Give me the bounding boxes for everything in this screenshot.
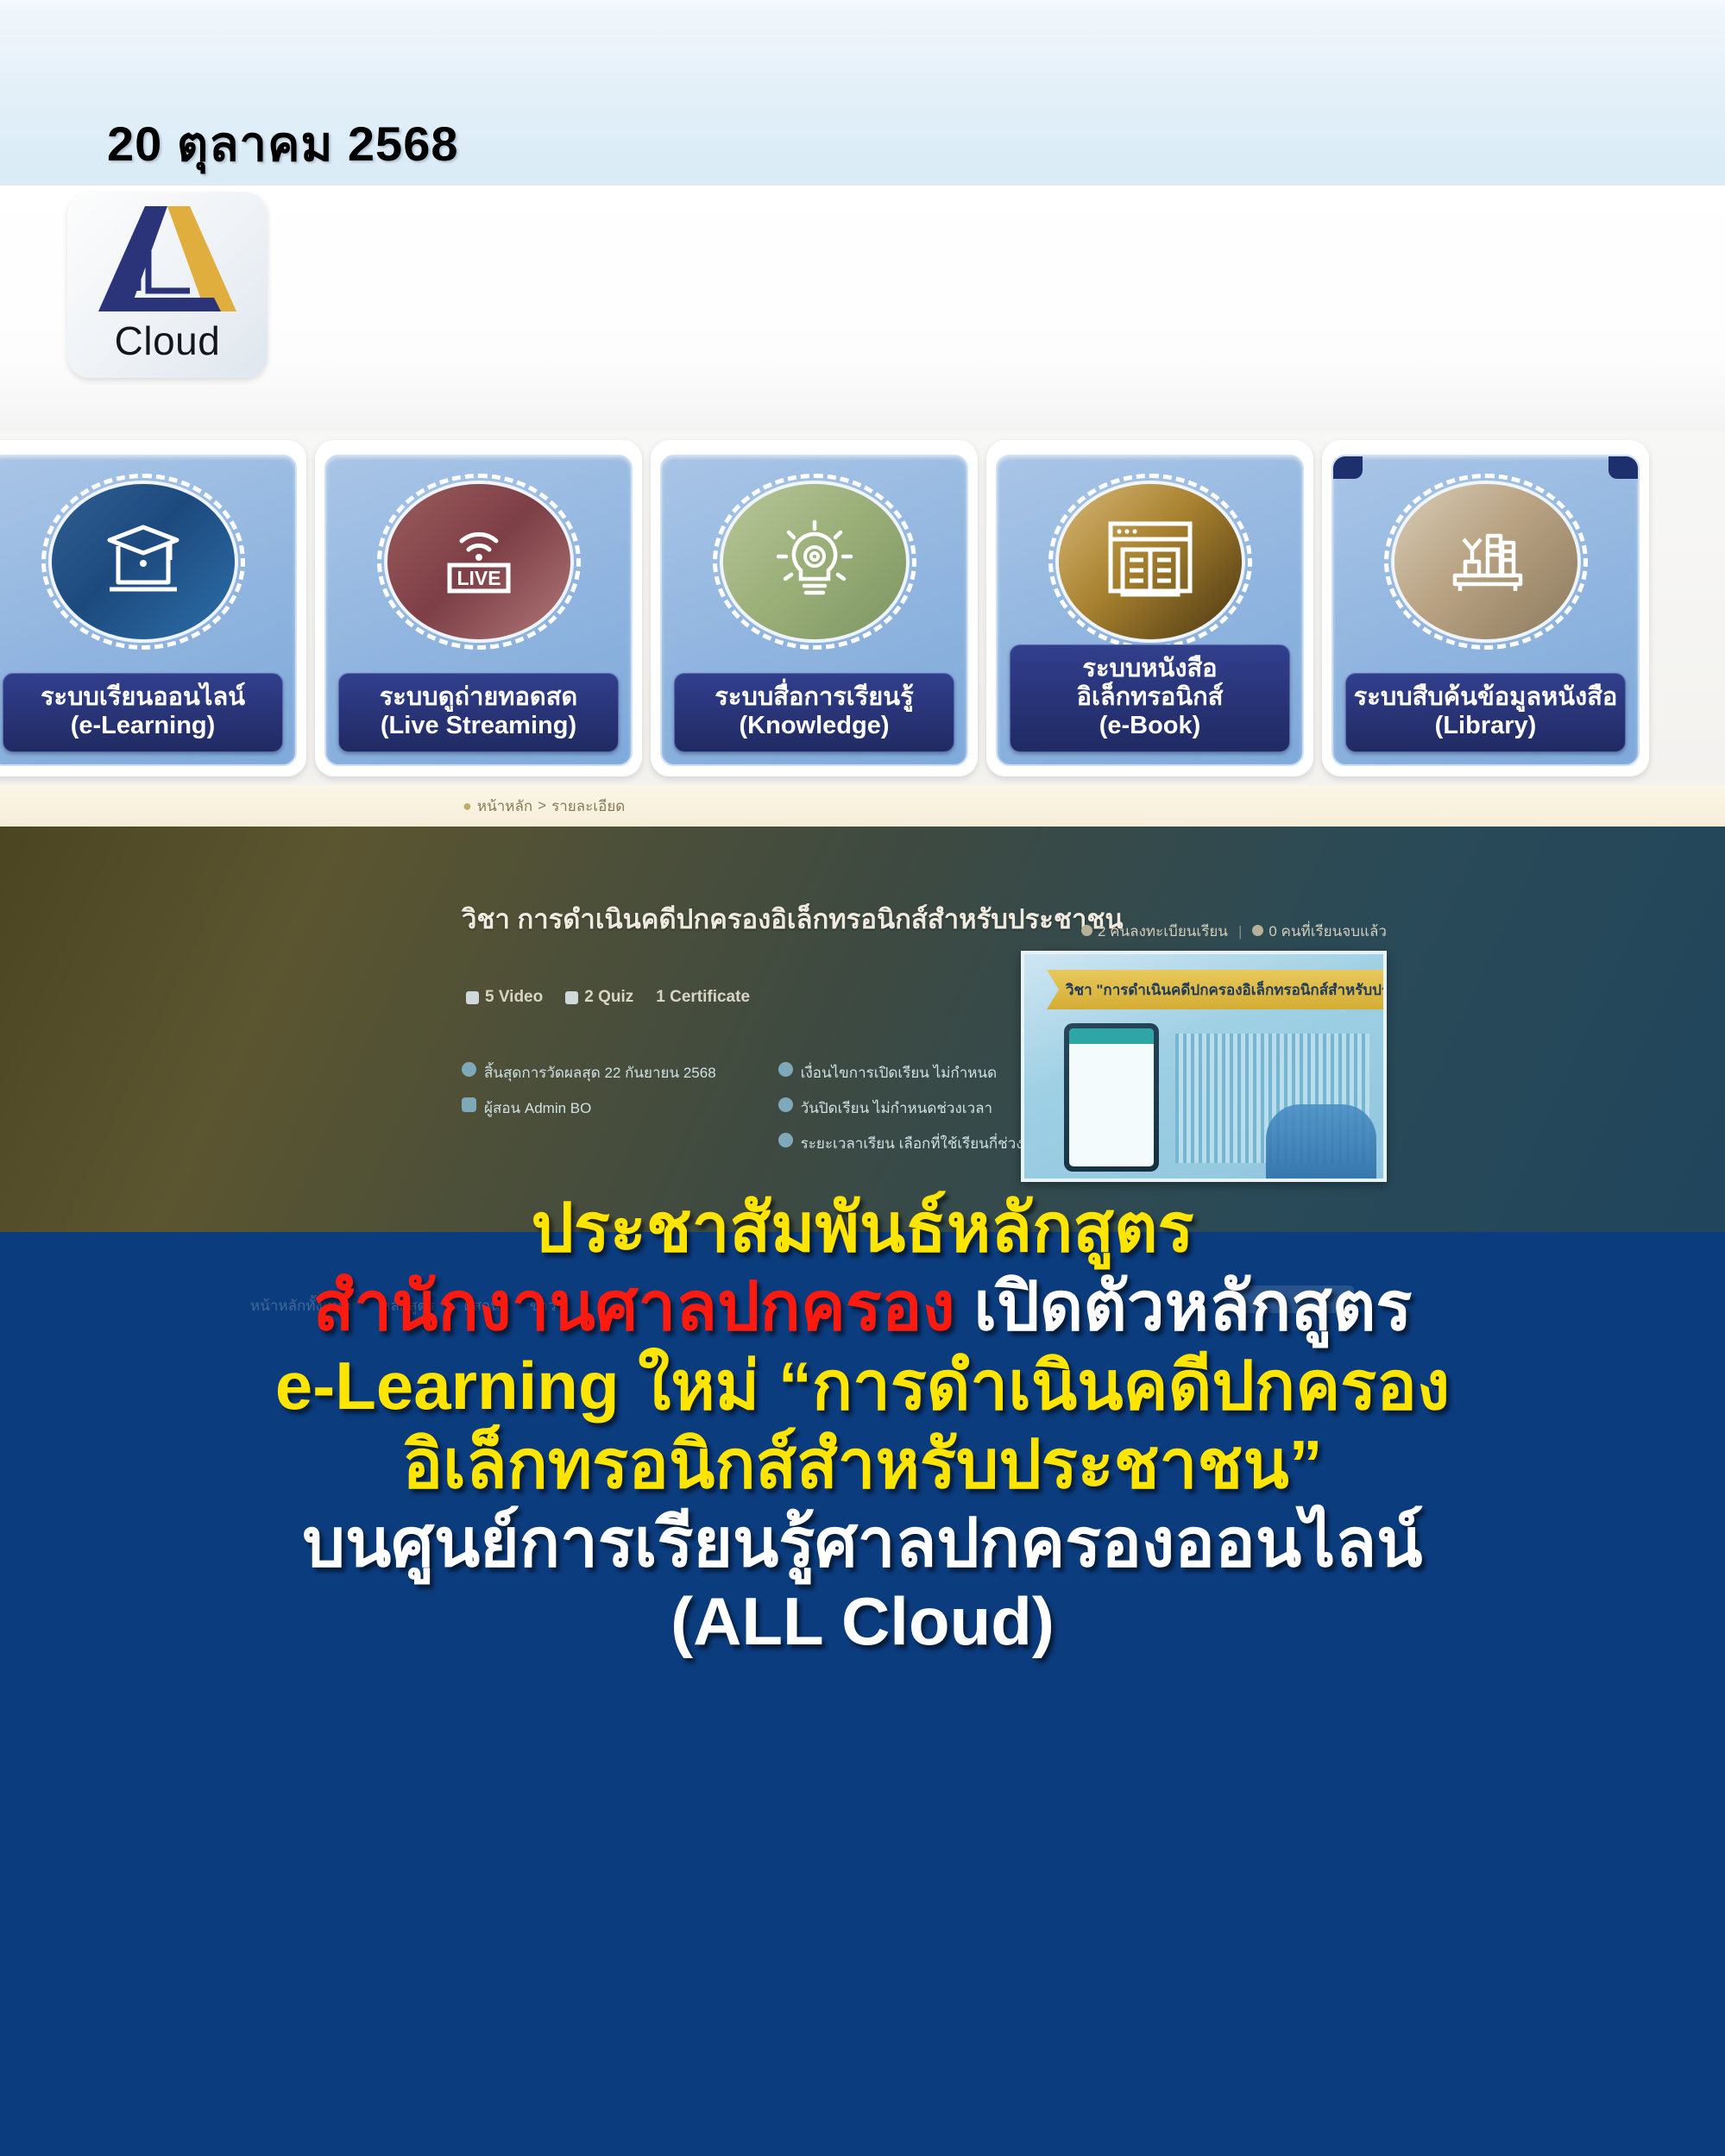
all-cloud-logo[interactable]: Cloud xyxy=(67,192,268,378)
thumbnail-people-graphic xyxy=(1266,1104,1376,1179)
service-card-e-learning[interactable]: ระบบเรียนออนไลน์ (e-Learning) xyxy=(0,440,306,776)
course-stats: 2 คนลงทะเบียนเรียน | 0 คนที่เรียนจบแล้ว xyxy=(1081,920,1387,943)
card-label: ระบบเรียนออนไลน์ (e-Learning) xyxy=(3,673,283,752)
thumbnail-tablet-graphic xyxy=(1064,1023,1159,1172)
trophy-icon xyxy=(1252,925,1263,936)
headline-line-6: (ALL Cloud) xyxy=(0,1582,1725,1661)
people-icon xyxy=(462,1097,476,1112)
lightbulb-gear-icon xyxy=(768,517,861,607)
card-label-th: ระบบสืบค้นข้อมูลหนังสือ xyxy=(1350,683,1621,712)
headline-line-2: สำนักงานศาลปกครอง เปิดตัวหลักสูตร xyxy=(0,1267,1725,1346)
course-meta-list: 5 Video 2 Quiz 1 Certificate xyxy=(466,988,750,1007)
service-card-knowledge[interactable]: ระบบสื่อการเรียนรู้ (Knowledge) xyxy=(651,440,978,776)
card-label-en: (Live Streaming) xyxy=(343,712,614,740)
headline-line-3: e-Learning ใหม่ “การดำเนินคดีปกครอง xyxy=(0,1347,1725,1425)
card-label-th: ระบบเรียนออนไลน์ xyxy=(7,683,279,712)
poster-root: 20 ตุลาคม 2568 Cloud ศูนย์การเรียนรู้ศาล… xyxy=(0,0,1725,2156)
course-meta-video-label: 5 Video xyxy=(485,988,543,1007)
card-label: ระบบหนังสืออิเล็กทรอนิกส์ (e-Book) xyxy=(1010,644,1290,752)
site-header: Cloud ศูนย์การเรียนรู้ศาลปกครองออนไลน์ (… xyxy=(0,185,1725,431)
logo-wordmark: Cloud xyxy=(67,317,268,364)
svg-text:LIVE: LIVE xyxy=(456,567,501,589)
card-label-en: (e-Learning) xyxy=(7,712,279,740)
card-label-th: ระบบดูถ่ายทอดสด xyxy=(343,683,614,712)
card-label: ระบบดูถ่ายทอดสด (Live Streaming) xyxy=(338,673,619,752)
card-photo-frame xyxy=(713,474,916,650)
service-card-row: ระบบเรียนออนไลน์ (e-Learning) xyxy=(0,431,1725,785)
card-label-en: (Knowledge) xyxy=(678,712,950,740)
info-icon xyxy=(778,1133,793,1147)
course-stat-finished: 0 คนที่เรียนจบแล้ว xyxy=(1252,920,1387,943)
headline-line-1: ประชาสัมพันธ์หลักสูตร xyxy=(0,1189,1725,1267)
breadcrumb-strip: ● หน้าหลัก > รายละเอียด xyxy=(0,785,1725,827)
info-icon xyxy=(778,1062,793,1077)
course-detail-left-column: สิ้นสุดการวัดผลสุด 22 กันยายน 2568 ผู้สอ… xyxy=(462,1061,716,1167)
corner-accent xyxy=(1609,456,1638,479)
bookshelf-icon xyxy=(1434,520,1538,603)
course-stat-separator: | xyxy=(1238,923,1242,940)
clock-icon xyxy=(462,1062,476,1077)
course-meta-quiz-label: 2 Quiz xyxy=(584,988,633,1007)
info-icon xyxy=(778,1097,793,1112)
course-detail-label: สิ้นสุดการวัดผลสุด 22 กันยายน 2568 xyxy=(484,1061,716,1084)
announcement-date: 20 ตุลาคม 2568 xyxy=(107,105,459,182)
course-detail-panel: วิชา การดำเนินคดีปกครองอิเล็กทรอนิกส์สำห… xyxy=(0,827,1725,1232)
headline-line-5: บนศูนย์การเรียนรู้ศาลปกครองออนไลน์ xyxy=(0,1504,1725,1582)
card-label-en: (Library) xyxy=(1350,712,1621,740)
headline-line-2-white: เปิดตัวหลักสูตร xyxy=(955,1268,1413,1344)
headline-line-4: อิเล็กทรอนิกส์สำหรับประชาชน” xyxy=(0,1425,1725,1504)
breadcrumb-current: รายละเอียด xyxy=(551,795,625,818)
breadcrumb-home[interactable]: หน้าหลัก xyxy=(477,795,532,818)
live-broadcast-icon: LIVE xyxy=(427,520,531,603)
card-label: ระบบสื่อการเรียนรู้ (Knowledge) xyxy=(674,673,954,752)
course-meta-video: 5 Video xyxy=(466,988,543,1007)
course-detail-item: ผู้สอน Admin BO xyxy=(462,1097,716,1120)
ebook-window-icon xyxy=(1100,517,1200,607)
thumbnail-ribbon-title: วิชา "การดำเนินคดีปกครองอิเล็กทรอนิกส์สำ… xyxy=(1047,970,1387,1009)
course-detail-label: เงื่อนไขการเปิดเรียน ไม่กำหนด xyxy=(801,1061,997,1084)
location-pin-icon: ● xyxy=(463,797,472,815)
headline-block: ประชาสัมพันธ์หลักสูตร สำนักงานศาลปกครอง … xyxy=(0,1189,1725,1662)
corner-accent xyxy=(1333,456,1363,479)
breadcrumb-separator: > xyxy=(538,797,546,814)
quiz-icon xyxy=(565,991,578,1004)
graduation-laptop-icon xyxy=(96,522,191,601)
date-strip: 20 ตุลาคม 2568 xyxy=(0,0,1725,185)
course-detail-label: ผู้สอน Admin BO xyxy=(484,1097,591,1120)
course-detail-item: สิ้นสุดการวัดผลสุด 22 กันยายน 2568 xyxy=(462,1061,716,1084)
logo-mark-icon xyxy=(85,201,250,322)
video-icon xyxy=(466,991,479,1004)
card-label-en: (e-Book) xyxy=(1014,712,1286,740)
card-label-th: ระบบหนังสืออิเล็กทรอนิกส์ xyxy=(1014,655,1286,712)
headline-line-2-red: สำนักงานศาลปกครอง xyxy=(313,1268,955,1344)
card-label-th: ระบบสื่อการเรียนรู้ xyxy=(678,683,950,712)
card-photo-frame: LIVE xyxy=(377,474,581,650)
service-card-ebook[interactable]: ระบบหนังสืออิเล็กทรอนิกส์ (e-Book) xyxy=(986,440,1313,776)
course-stat-enrolled: 2 คนลงทะเบียนเรียน xyxy=(1081,920,1228,943)
course-detail-columns: สิ้นสุดการวัดผลสุด 22 กันยายน 2568 ผู้สอ… xyxy=(462,1061,1080,1167)
course-meta-quiz: 2 Quiz xyxy=(565,988,633,1007)
course-meta-certificate: 1 Certificate xyxy=(656,988,750,1007)
service-card-library[interactable]: ระบบสืบค้นข้อมูลหนังสือ (Library) xyxy=(1322,440,1649,776)
breadcrumb: ● หน้าหลัก > รายละเอียด xyxy=(463,795,625,818)
card-photo-frame xyxy=(41,474,245,650)
course-meta-certificate-label: 1 Certificate xyxy=(656,988,750,1007)
card-photo-frame xyxy=(1384,474,1588,650)
card-photo-frame xyxy=(1048,474,1252,650)
course-title: วิชา การดำเนินคดีปกครองอิเล็กทรอนิกส์สำห… xyxy=(462,897,1124,940)
course-detail-label: วันปิดเรียน ไม่กำหนดช่วงเวลา xyxy=(801,1097,992,1120)
user-check-icon xyxy=(1081,925,1092,936)
card-label: ระบบสืบค้นข้อมูลหนังสือ (Library) xyxy=(1345,673,1626,752)
service-card-live-streaming[interactable]: LIVE ระบบดูถ่ายทอดสด (Live Streaming) xyxy=(315,440,642,776)
course-thumbnail[interactable]: วิชา "การดำเนินคดีปกครองอิเล็กทรอนิกส์สำ… xyxy=(1021,951,1387,1182)
